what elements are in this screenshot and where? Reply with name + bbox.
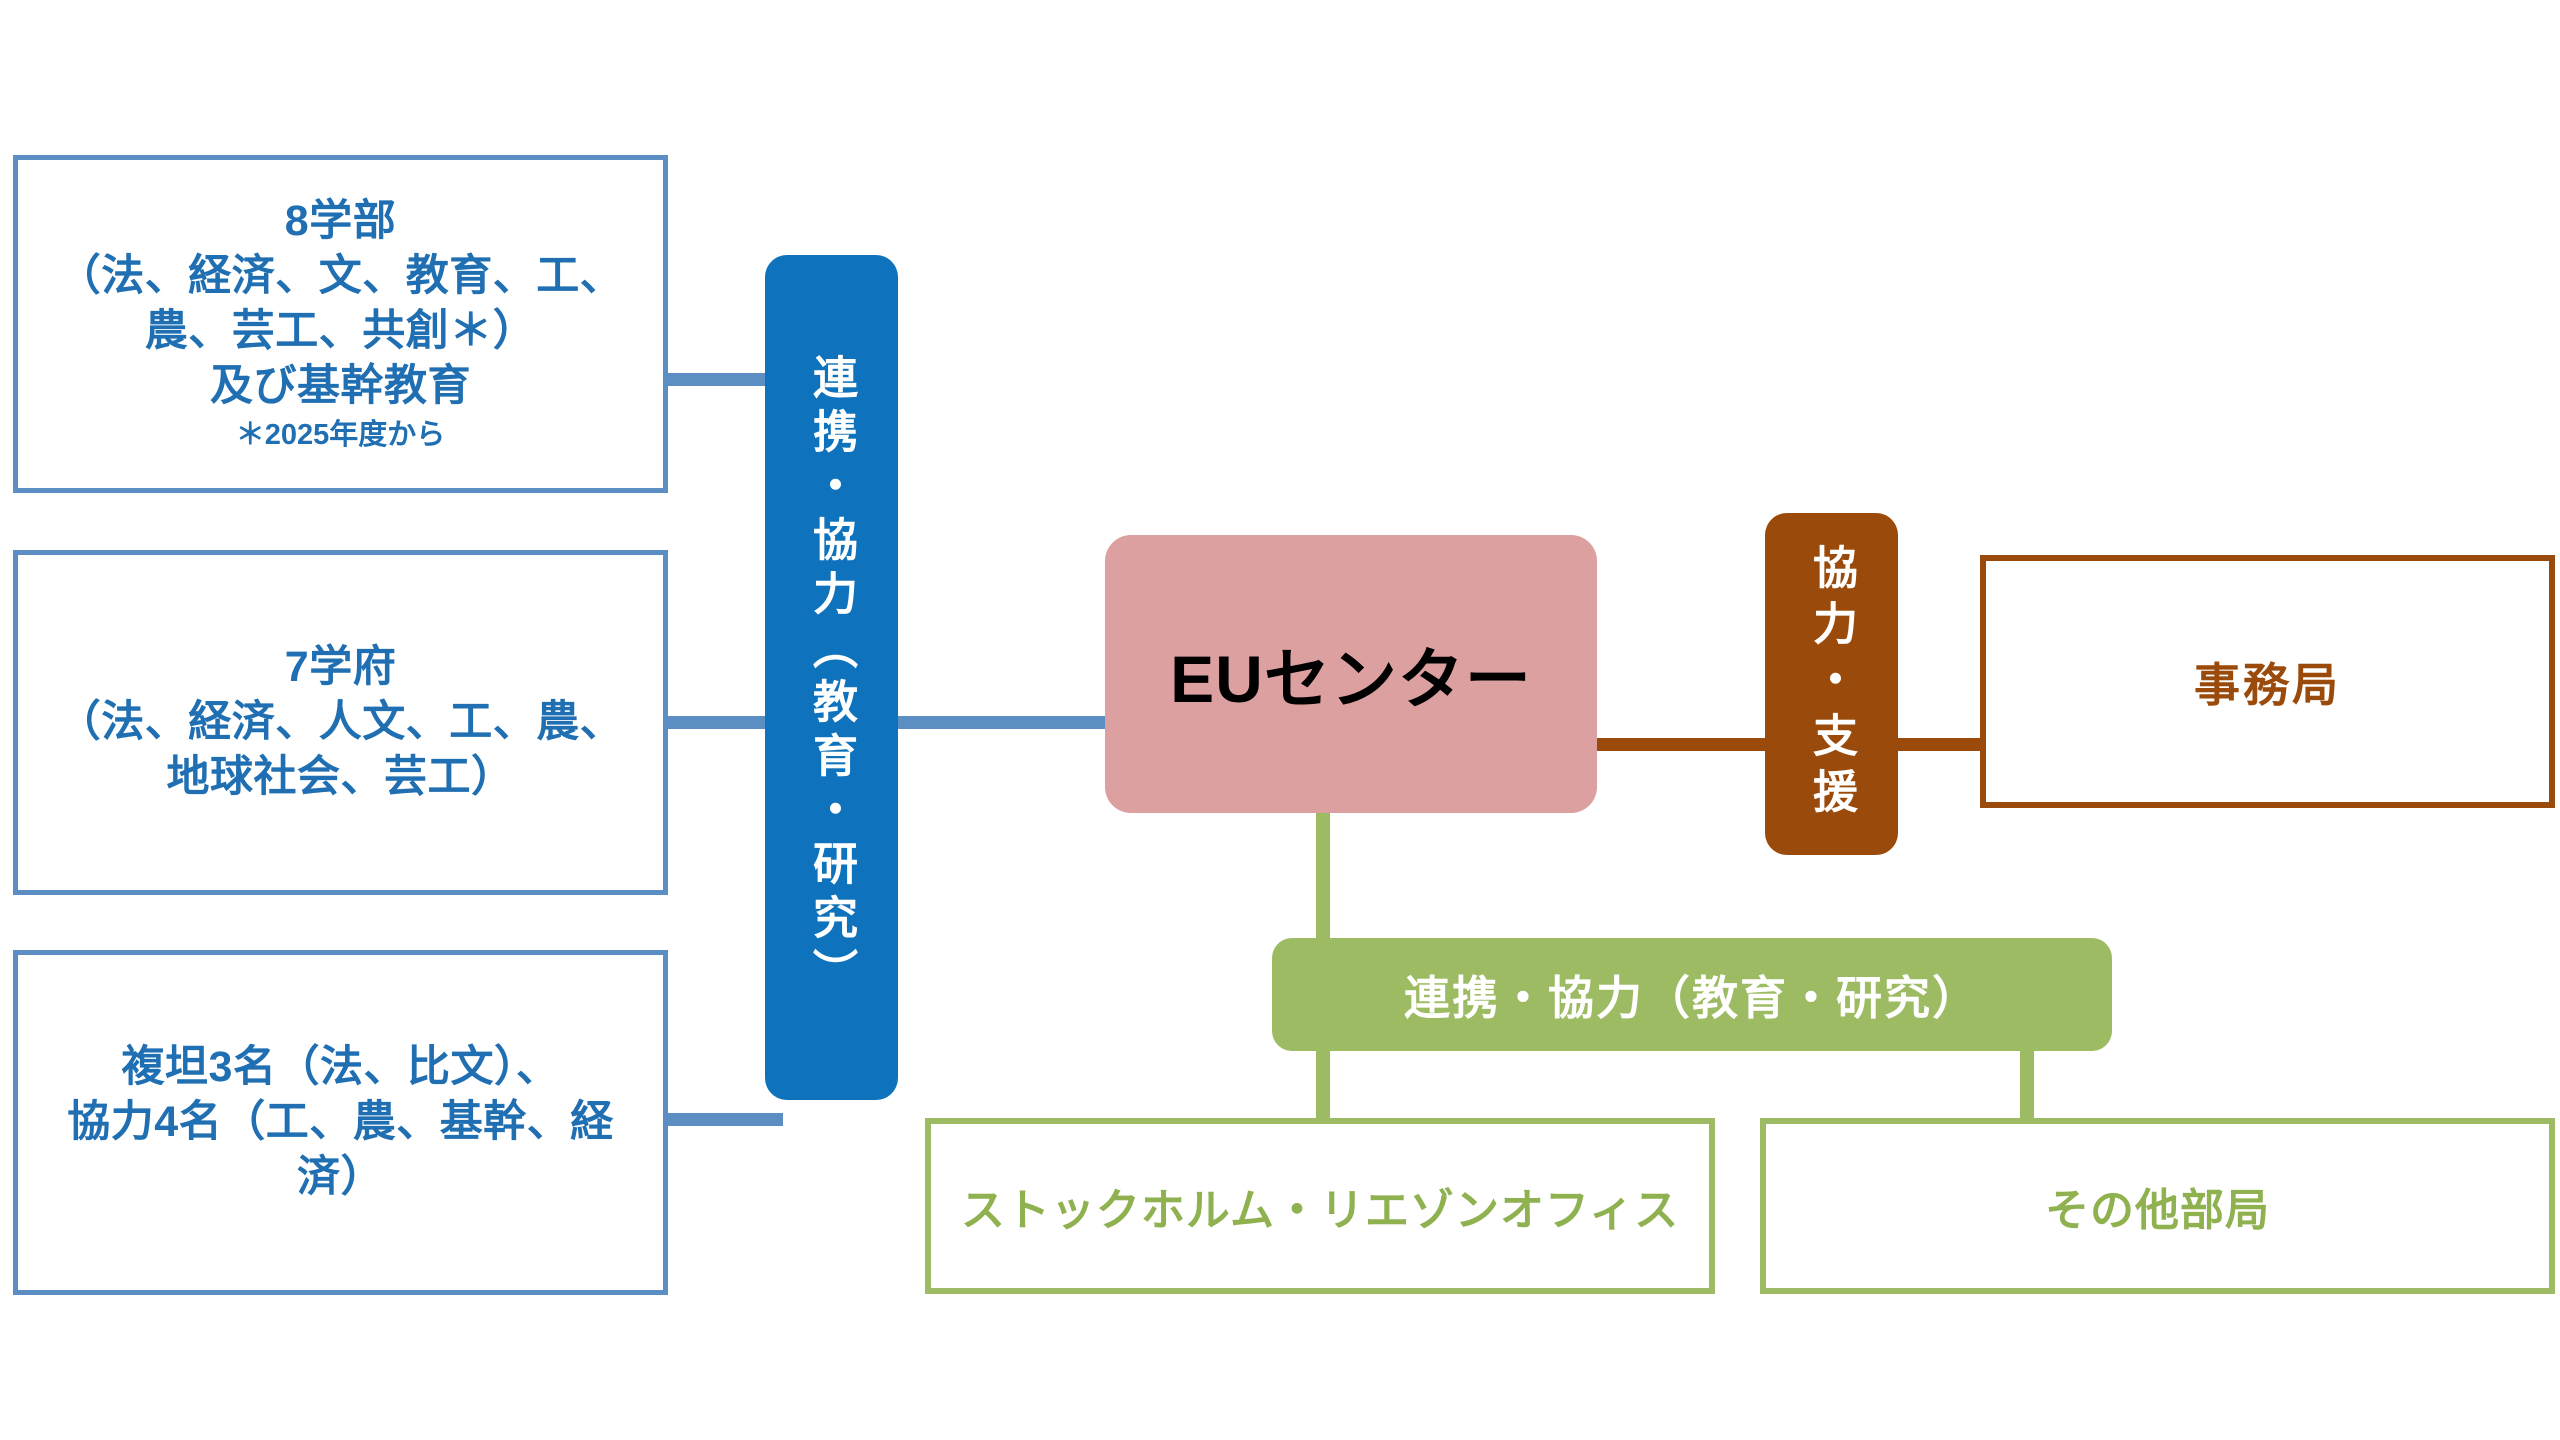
box-faculties-line-1: 8学部 [18,194,663,249]
box-faculties-note: ＊2025年度から [18,417,663,454]
band-cooperation-education-research-horizontal[interactable]: 連携・協力（教育・研究） [1272,938,2112,1051]
box-staff-line-1: 複坦3名（法、比文）、 [18,1040,663,1095]
box-stockholm-liaison-office[interactable]: ストックホルム・リエゾンオフィス [925,1118,1715,1294]
diagram-canvas: 8学部 （法、経済、文、教育、工、 農、芸工、共創＊） 及び基幹教育 ＊2025… [0,0,2560,1440]
connector-greenband-to-other [2020,1048,2034,1120]
box-graduate-line-1: 7学府 [18,640,663,695]
connector-blueband-to-eucenter [860,716,1130,729]
connector-staff-to-blueband [663,1113,783,1126]
box-graduate-line-2: （法、経済、人文、工、農、 [18,695,663,750]
band-cooperation-support-vertical[interactable]: 協力・支援 [1765,513,1898,855]
box-faculties[interactable]: 8学部 （法、経済、文、教育、工、 農、芸工、共創＊） 及び基幹教育 ＊2025… [13,155,668,493]
box-faculties-line-3: 農、芸工、共創＊） [18,304,663,359]
band-cooperation-education-research-vertical[interactable]: 連携・協力（教育・研究） [765,255,898,1100]
box-staff[interactable]: 複坦3名（法、比文）、 協力4名（工、農、基幹、経 済） [13,950,668,1295]
box-office[interactable]: 事務局 [1980,555,2555,808]
connector-greenband-to-stockholm [1316,1048,1330,1120]
box-other-departments[interactable]: その他部局 [1760,1118,2555,1294]
box-graduate-schools[interactable]: 7学府 （法、経済、人文、工、農、 地球社会、芸工） [13,550,668,895]
box-faculties-line-4: 及び基幹教育 [18,359,663,414]
connector-eucenter-to-greenband [1316,800,1330,950]
box-faculties-line-2: （法、経済、文、教育、工、 [18,249,663,304]
box-eu-center[interactable]: EUセンター [1105,535,1597,813]
box-graduate-line-3: 地球社会、芸工） [18,750,663,805]
box-staff-line-2: 協力4名（工、農、基幹、経 [18,1095,663,1150]
box-staff-line-3: 済） [18,1150,663,1205]
